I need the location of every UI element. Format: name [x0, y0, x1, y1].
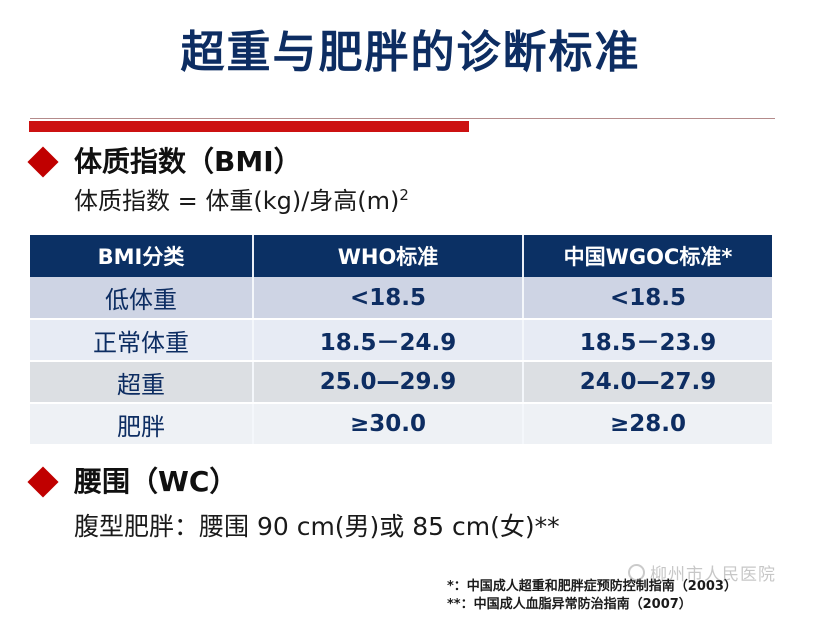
cell-category: 低体重	[30, 277, 253, 319]
cell-wgoc: ≥28.0	[523, 403, 772, 445]
table-row: 正常体重 18.5－24.9 18.5－23.9	[30, 319, 772, 361]
cell-category: 正常体重	[30, 319, 253, 361]
table-row: 肥胖 ≥30.0 ≥28.0	[30, 403, 772, 445]
section-heading-wc: 腰围（WC）	[32, 466, 237, 498]
slide-canvas: 超重与肥胖的诊断标准 体质指数（BMI） 体质指数 = 体重(kg)/身高(m)…	[0, 0, 821, 625]
cell-wgoc: <18.5	[523, 277, 772, 319]
footnotes: *：中国成人超重和肥胖症预防控制指南（2003） **：中国成人血脂异常防治指南…	[447, 578, 737, 614]
bmi-formula-text: 体质指数 = 体重(kg)/身高(m)	[74, 187, 399, 215]
red-diamond-icon	[27, 466, 58, 497]
wc-detail-text: 腹型肥胖：腰围 90 cm(男)或 85 cm(女)**	[74, 512, 560, 542]
cell-wgoc: 24.0—27.9	[523, 361, 772, 403]
cell-category: 肥胖	[30, 403, 253, 445]
section-heading-bmi-label: 体质指数（BMI）	[74, 146, 302, 178]
cell-category: 超重	[30, 361, 253, 403]
section-heading-wc-label: 腰围（WC）	[74, 466, 237, 498]
cell-wgoc: 18.5－23.9	[523, 319, 772, 361]
footnote-2: **：中国成人血脂异常防治指南（2007）	[447, 596, 737, 614]
bmi-formula-superscript: 2	[399, 186, 408, 204]
section-heading-bmi: 体质指数（BMI）	[32, 146, 302, 178]
red-diamond-icon	[27, 146, 58, 177]
table-row: 超重 25.0—29.9 24.0—27.9	[30, 361, 772, 403]
footnote-1: *：中国成人超重和肥胖症预防控制指南（2003）	[447, 578, 737, 596]
bmi-classification-table: BMI分类 WHO标准 中国WGOC标准* 低体重 <18.5 <18.5 正常…	[30, 235, 772, 446]
page-title: 超重与肥胖的诊断标准	[0, 24, 821, 82]
divider-red-bar	[29, 121, 469, 132]
cell-who: ≥30.0	[253, 403, 523, 445]
cell-who: 25.0—29.9	[253, 361, 523, 403]
table-header-who: WHO标准	[253, 235, 523, 277]
cell-who: 18.5－24.9	[253, 319, 523, 361]
table-row: 低体重 <18.5 <18.5	[30, 277, 772, 319]
table-header-wgoc: 中国WGOC标准*	[523, 235, 772, 277]
bmi-formula: 体质指数 = 体重(kg)/身高(m)2	[74, 186, 409, 216]
table-header-row: BMI分类 WHO标准 中国WGOC标准*	[30, 235, 772, 277]
divider-hairline	[30, 118, 775, 119]
cell-who: <18.5	[253, 277, 523, 319]
table-header-category: BMI分类	[30, 235, 253, 277]
